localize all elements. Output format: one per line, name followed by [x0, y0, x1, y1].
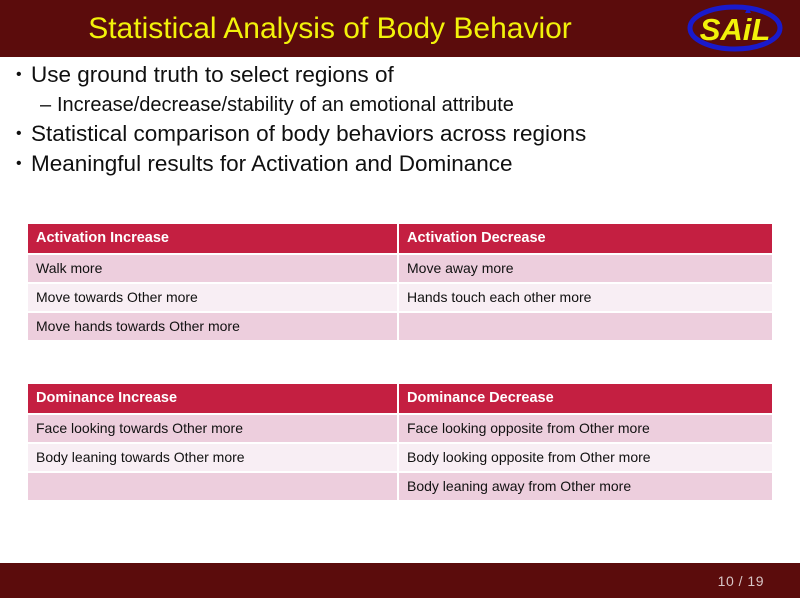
table-row: Move towards Other more Hands touch each… — [28, 283, 772, 312]
list-item-label: Use ground truth to select regions of — [31, 64, 784, 87]
activation-table: Activation Increase Activation Decrease … — [28, 224, 772, 340]
list-item: • Meaningful results for Activation and … — [14, 153, 784, 176]
table-cell: Move towards Other more — [28, 283, 398, 312]
bullet-marker-icon: • — [16, 123, 31, 145]
table-cell: Walk more — [28, 254, 398, 283]
table-row: Face looking towards Other more Face loo… — [28, 414, 772, 443]
table-cell: Face looking opposite from Other more — [398, 414, 772, 443]
page-title: Statistical Analysis of Body Behavior — [0, 0, 660, 57]
table-header-row: Activation Increase Activation Decrease — [28, 224, 772, 254]
table-cell: Move hands towards Other more — [28, 312, 398, 340]
column-header-activation-increase: Activation Increase — [28, 224, 398, 254]
list-item-label: Increase/decrease/stability of an emotio… — [57, 95, 784, 115]
table-cell: Face looking towards Other more — [28, 414, 398, 443]
table-header-row: Dominance Increase Dominance Decrease — [28, 384, 772, 414]
list-item-label: Statistical comparison of body behaviors… — [31, 123, 784, 146]
slide-footer-bar: 10 / 19 — [0, 563, 800, 598]
dominance-table: Dominance Increase Dominance Decrease Fa… — [28, 384, 772, 500]
column-header-dominance-decrease: Dominance Decrease — [398, 384, 772, 414]
table-cell: Body looking opposite from Other more — [398, 443, 772, 472]
table-cell: Hands touch each other more — [398, 283, 772, 312]
table-row: Body leaning towards Other more Body loo… — [28, 443, 772, 472]
sail-logo-icon: SAiL — [682, 2, 788, 54]
sail-logo-text: SAiL — [700, 12, 771, 47]
list-item: • Statistical comparison of body behavio… — [14, 123, 784, 146]
column-header-dominance-increase: Dominance Increase — [28, 384, 398, 414]
table-row: Body leaning away from Other more — [28, 472, 772, 500]
list-item: – Increase/decrease/stability of an emot… — [14, 95, 784, 115]
table-cell-empty — [398, 312, 772, 340]
slide-number: 10 / 19 — [718, 563, 764, 598]
bullet-marker-icon: • — [16, 153, 31, 175]
table-cell: Body leaning towards Other more — [28, 443, 398, 472]
table-row: Walk more Move away more — [28, 254, 772, 283]
table-row: Move hands towards Other more — [28, 312, 772, 340]
slide-header-bar: Statistical Analysis of Body Behavior SA… — [0, 0, 800, 57]
dash-marker-icon: – — [40, 95, 57, 115]
table-cell: Body leaning away from Other more — [398, 472, 772, 500]
list-item: • Use ground truth to select regions of — [14, 64, 784, 87]
list-item-label: Meaningful results for Activation and Do… — [31, 153, 784, 176]
bullet-marker-icon: • — [16, 64, 31, 86]
column-header-activation-decrease: Activation Decrease — [398, 224, 772, 254]
bullet-list: • Use ground truth to select regions of … — [14, 64, 784, 184]
table-cell-empty — [28, 472, 398, 500]
table-cell: Move away more — [398, 254, 772, 283]
sail-logo: SAiL — [682, 2, 788, 54]
